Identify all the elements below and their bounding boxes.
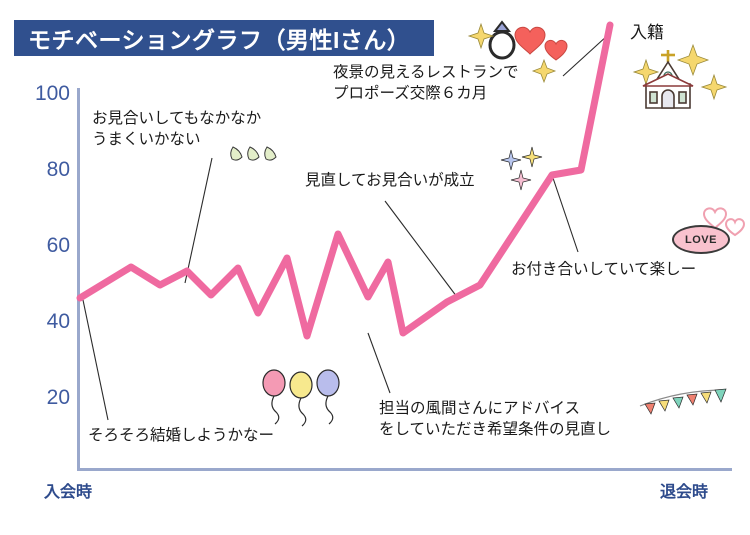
love-badge: LOVE bbox=[672, 225, 730, 254]
annotation-kekkon: そろそろ結婚しようかなー bbox=[88, 425, 274, 446]
annotation-tanoshi: お付き合いしていて楽しー bbox=[511, 259, 696, 280]
leader-omiai bbox=[185, 158, 212, 283]
infographic-canvas: モチベーショングラフ（男性Iさん） 100 80 60 40 20 入会時 退会… bbox=[0, 0, 750, 535]
annotation-seiritsu: 見直してお見合いが成立 bbox=[305, 170, 475, 191]
leader-tanoshi bbox=[552, 175, 578, 252]
annotation-advice: 担当の風間さんにアドバイス をしていただき希望条件の見直し bbox=[379, 398, 611, 440]
love-badge-label: LOVE bbox=[685, 234, 717, 246]
engagement-ring-icon bbox=[490, 22, 514, 58]
annotation-omiai: お見合いしてもなかなか うまくいかない bbox=[92, 108, 261, 150]
annotation-nyuseki: 入籍 bbox=[630, 22, 664, 43]
leader-advice bbox=[368, 333, 390, 393]
balloons-icon bbox=[263, 370, 339, 426]
hearts-icon bbox=[515, 27, 567, 60]
leader-kekkon bbox=[83, 300, 108, 420]
bunting-icon bbox=[640, 389, 726, 414]
burst-sparkle-icon bbox=[501, 147, 542, 190]
annotation-propose: 夜景の見えるレストランで プロポーズ交際６カ月 bbox=[333, 62, 519, 104]
